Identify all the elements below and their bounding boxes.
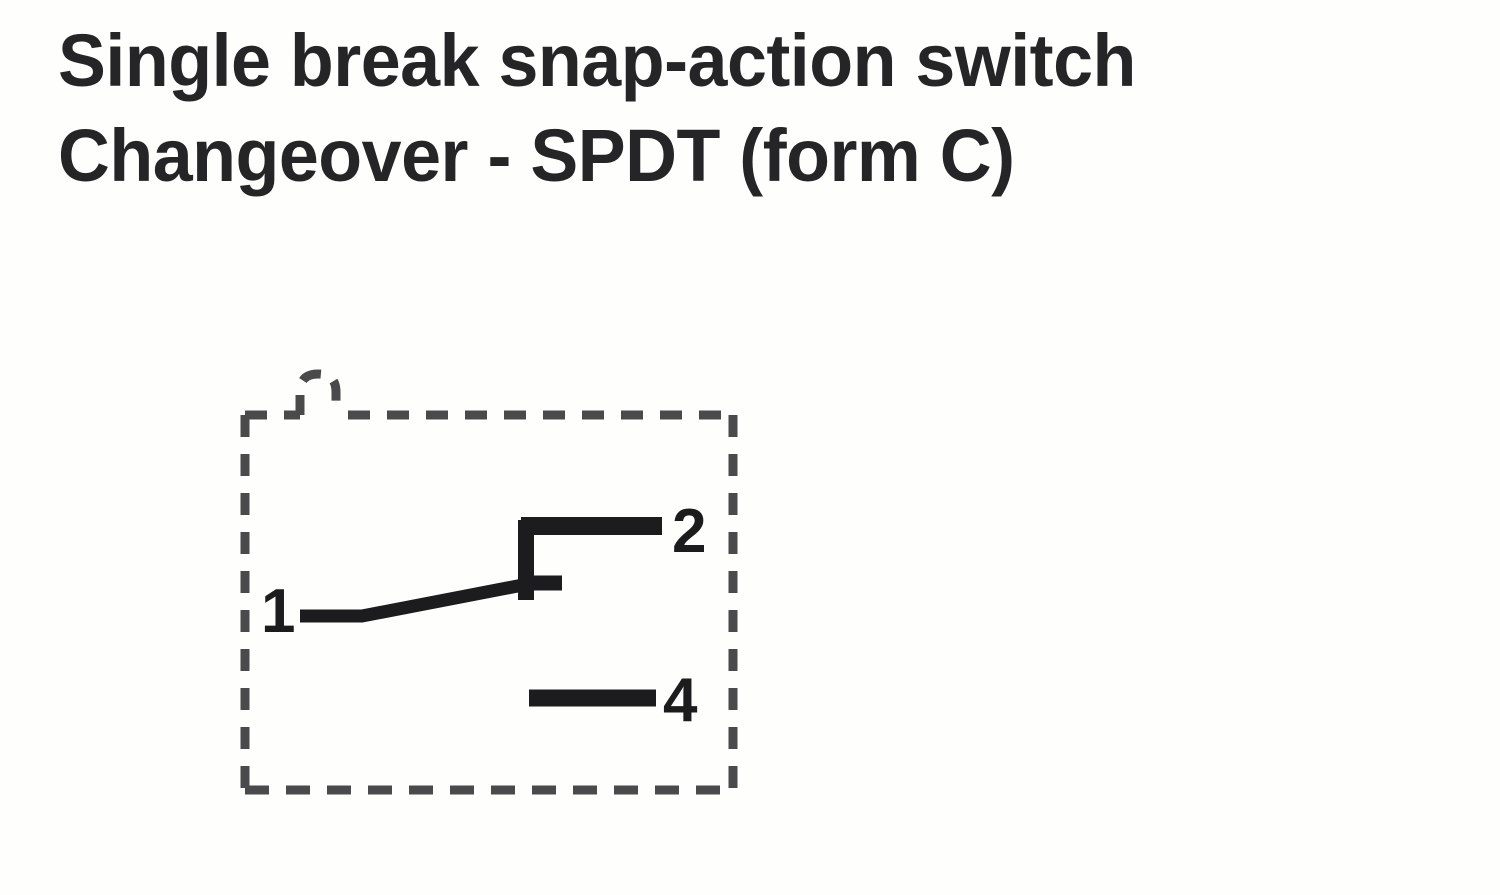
common-moving-blade [300, 584, 528, 616]
switch-schematic-diagram: 1 2 4 [0, 0, 1500, 895]
schematic-canvas: 1 2 4 [0, 0, 1500, 895]
schematic-page: Single break snap-action switch Changeov… [0, 0, 1500, 895]
terminal-label-4: 4 [663, 666, 698, 735]
plunger-actuator-icon [300, 374, 336, 415]
terminal-label-2: 2 [672, 497, 706, 566]
terminal-label-1: 1 [261, 577, 295, 646]
